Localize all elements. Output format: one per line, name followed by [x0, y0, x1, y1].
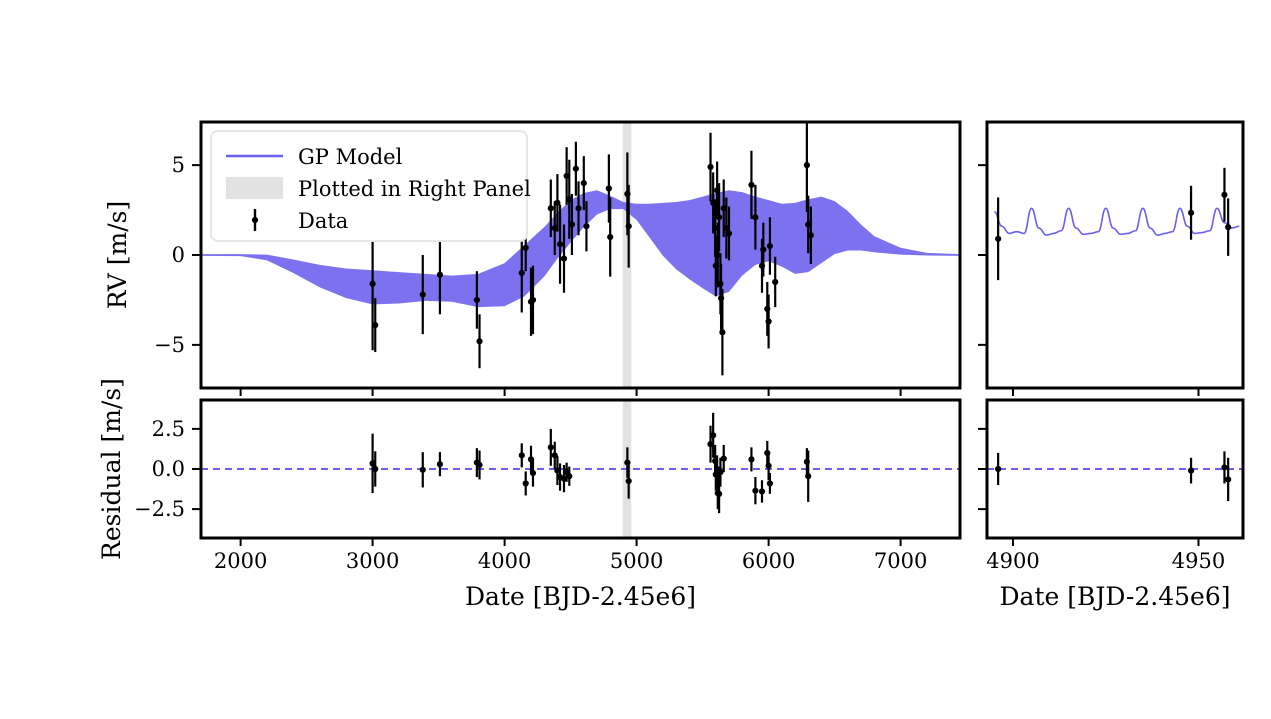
data-series [995, 451, 1231, 501]
data-point [372, 322, 378, 328]
y-axis-title: Residual [m/s] [97, 378, 126, 560]
data-point [607, 234, 613, 240]
data-point [804, 162, 810, 168]
x-tick-label: 7000 [874, 549, 927, 573]
data-point [557, 241, 563, 247]
data-point [707, 164, 713, 170]
data-point [805, 473, 811, 479]
legend-patch-swatch [226, 177, 283, 199]
data-point [523, 245, 529, 251]
y-tick-label: 0.0 [152, 457, 185, 481]
data-point [766, 463, 772, 469]
data-point [548, 205, 554, 211]
rv-gp-figure: 50−5RV [m/s]2.50.0−2.5Residual [m/s]2000… [0, 0, 1271, 719]
data-point [748, 456, 754, 462]
data-point [752, 488, 758, 494]
data-point [474, 297, 480, 303]
data-point [767, 243, 773, 249]
data-point [772, 279, 778, 285]
data-point [1225, 224, 1231, 230]
data-point [760, 247, 766, 253]
gp-model-line [994, 208, 1239, 235]
x-tick-label: 5000 [610, 549, 663, 573]
x-tick-label: 4950 [1172, 549, 1225, 573]
data-point [583, 223, 589, 229]
data-point [437, 272, 443, 278]
data-point [759, 488, 765, 494]
data-point [566, 473, 572, 479]
data-point [1221, 464, 1227, 470]
data-point [372, 466, 378, 472]
data-point [523, 480, 529, 486]
data-point [721, 455, 727, 461]
data-point [752, 214, 758, 220]
data-point [575, 205, 581, 211]
data-point [530, 470, 536, 476]
data-point [748, 182, 754, 188]
data-series [995, 168, 1231, 280]
y-tick-label: 2.5 [152, 417, 185, 441]
zoom-residual-panel [987, 400, 1243, 546]
data-point [717, 469, 723, 475]
y-tick-label: 0 [172, 243, 185, 267]
data-point [716, 214, 722, 220]
data-point [519, 452, 525, 458]
data-point [548, 444, 554, 450]
data-point [995, 236, 1001, 242]
data-point [420, 291, 426, 297]
legend-label: Data [298, 209, 348, 233]
legend: GP ModelPlotted in Right PanelData [211, 131, 531, 241]
data-point [530, 297, 536, 303]
data-point [995, 466, 1001, 472]
data-point [437, 461, 443, 467]
data-point [476, 338, 482, 344]
x-tick-label: 4000 [478, 549, 531, 573]
data-point [476, 462, 482, 468]
main-residual-panel [192, 400, 960, 546]
data-series [370, 413, 812, 513]
data-point [569, 221, 575, 227]
x-tick-label: 2000 [214, 549, 267, 573]
data-point [710, 432, 716, 438]
data-point [719, 329, 725, 335]
data-point [626, 478, 632, 484]
data-point [370, 281, 376, 287]
y-axis-title: RV [m/s] [103, 201, 132, 309]
panel-frame [987, 122, 1243, 388]
data-point [1188, 468, 1194, 474]
y-tick-label: 5 [172, 153, 185, 177]
y-tick-label: −2.5 [134, 497, 185, 521]
y-tick-label: −5 [154, 333, 185, 357]
data-point [767, 480, 773, 486]
legend-marker-swatch [252, 217, 258, 223]
data-point [726, 230, 732, 236]
data-point [808, 232, 814, 238]
data-point [561, 255, 567, 261]
data-point [519, 270, 525, 276]
data-point [420, 467, 426, 473]
data-point [1221, 192, 1227, 198]
data-point [606, 185, 612, 191]
data-point [766, 318, 772, 324]
data-point [573, 166, 579, 172]
x-axis-title: Date [BJD-2.45e6] [1000, 582, 1231, 611]
x-tick-label: 3000 [346, 549, 399, 573]
legend-label: Plotted in Right Panel [298, 177, 531, 201]
zoom-rv-panel [987, 122, 1243, 396]
x-axis-title: Date [BJD-2.45e6] [465, 582, 696, 611]
plot-canvas: 50−5RV [m/s]2.50.0−2.5Residual [m/s]2000… [0, 0, 1271, 719]
legend-label: GP Model [298, 145, 403, 169]
x-tick-label: 6000 [742, 549, 795, 573]
data-point [1225, 476, 1231, 482]
data-point [716, 491, 722, 497]
x-tick-label: 4900 [986, 549, 1039, 573]
data-point [1188, 210, 1194, 216]
data-point [626, 223, 632, 229]
data-point [581, 180, 587, 186]
